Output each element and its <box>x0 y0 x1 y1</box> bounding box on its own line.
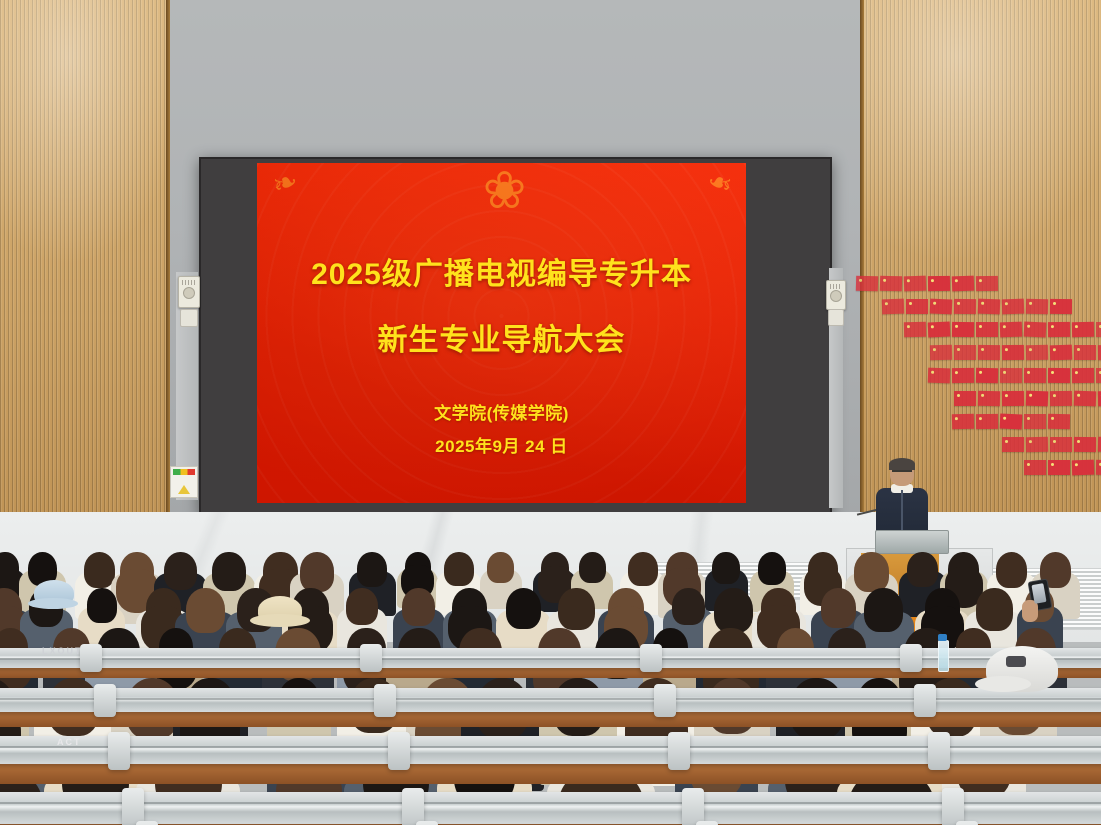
safety-notice-sign <box>170 466 198 498</box>
flag-tile <box>1024 368 1046 383</box>
audience-member-head <box>854 552 888 592</box>
flag-tile <box>1048 414 1070 429</box>
bench-end-cap <box>928 732 950 770</box>
wall-control-panel-right[interactable] <box>826 280 846 310</box>
slide-date: 2025年9月 24 日 <box>257 432 746 457</box>
bench-end-cap <box>942 788 964 825</box>
bench-end-cap <box>108 732 130 770</box>
bench-end-cap <box>388 732 410 770</box>
audience-member-head <box>907 552 938 587</box>
desk-surface <box>0 712 1101 727</box>
flag-tile <box>976 276 998 291</box>
flag-tile <box>1074 345 1096 360</box>
flag-tile <box>1002 345 1024 360</box>
wall-sensor-left <box>180 309 198 327</box>
control-panel-knob-icon[interactable] <box>183 287 195 299</box>
bench-back-rail <box>0 792 1101 824</box>
bench-end-cap <box>682 788 704 825</box>
flag-tile <box>928 276 950 291</box>
audience-member-head <box>558 588 595 630</box>
flag-tile <box>1026 391 1049 407</box>
flag-tile <box>856 276 878 292</box>
audience-member-head <box>506 588 542 629</box>
bench-end-cap <box>122 788 144 825</box>
wall-sensor-right <box>828 309 844 326</box>
beige-bucket-hat-brim <box>250 614 310 627</box>
water-bottle <box>938 640 949 672</box>
flag-tile <box>1024 414 1046 429</box>
flag-tile <box>1026 299 1048 314</box>
bench-end-cap <box>360 644 382 672</box>
flag-tile <box>952 322 974 337</box>
audience-member-head <box>212 552 246 591</box>
audience-member-head <box>402 588 435 626</box>
control-panel-vents-icon <box>182 280 196 285</box>
flag-tile <box>904 322 926 337</box>
flag-tile <box>882 299 904 315</box>
audience-member-head <box>186 588 225 633</box>
desk-surface <box>0 668 1101 678</box>
flag-tile <box>954 299 976 314</box>
flag-tile <box>928 368 950 384</box>
audience-member-head <box>300 552 334 592</box>
slide-title-line-2: 新生专业导航大会 <box>257 315 746 359</box>
flag-tile <box>1050 391 1072 406</box>
flag-tile <box>978 391 1000 406</box>
flag-tile <box>976 368 998 383</box>
flag-tile <box>976 414 998 429</box>
flag-tile <box>1096 368 1101 383</box>
audience-member-head <box>487 552 514 583</box>
audience-member-head <box>672 588 705 625</box>
jacket-print-text: LXOUT <box>42 646 83 656</box>
flag-tile <box>1002 437 1024 452</box>
light-blue-cap-brim <box>28 598 78 609</box>
bench-end-cap <box>654 684 676 717</box>
wall-control-panel-left[interactable] <box>178 276 200 308</box>
peony-ornament-left-icon: ❧ <box>269 166 302 202</box>
flag-tile <box>1072 460 1094 476</box>
flag-tile <box>880 276 902 292</box>
led-display-screen: ❧ ❀ ❧ 2025级广播电视编导专升本 新生专业导航大会 文学院(传媒学院) … <box>199 157 832 516</box>
audience-member-head <box>714 588 753 633</box>
presenter-hair <box>889 458 915 470</box>
audience-member-head <box>579 552 606 583</box>
flag-tile <box>1026 437 1048 452</box>
warning-triangle-icon <box>178 485 190 494</box>
flag-tile <box>1050 299 1072 314</box>
flag-tile <box>1096 460 1101 475</box>
flag-tile <box>1096 322 1101 337</box>
flag-tile <box>1072 322 1094 337</box>
flag-tile <box>976 322 998 337</box>
flag-tile <box>952 414 974 430</box>
flag-tile <box>1026 345 1048 361</box>
bench-end-cap <box>402 788 424 825</box>
jacket-print-text: ACT <box>57 737 82 747</box>
audience-member-head <box>628 552 658 586</box>
flag-tile <box>1000 414 1023 430</box>
control-panel-knob-icon[interactable] <box>830 290 842 302</box>
flag-tile <box>1050 437 1072 452</box>
bench-end-cap <box>80 644 102 672</box>
flag-tile <box>1074 391 1096 407</box>
peony-ornament-center-icon: ❀ <box>483 165 521 217</box>
control-panel-vents-icon <box>830 284 842 289</box>
flag-tile <box>1074 437 1096 452</box>
presentation-slide: ❧ ❀ ❧ 2025级广播电视编导专升本 新生专业导航大会 文学院(传媒学院) … <box>257 163 746 503</box>
audience-member-head <box>758 552 786 585</box>
flag-tile <box>952 276 975 292</box>
flag-tile <box>1002 391 1024 406</box>
audience-member-head <box>164 552 197 590</box>
bench-end-cap <box>94 684 116 717</box>
water-bottle-cap <box>938 634 947 641</box>
audience-member-head <box>864 588 902 632</box>
safety-sign-indicators-icon <box>173 469 195 475</box>
slide-organization: 文学院(传媒学院) <box>257 399 746 424</box>
flag-tile <box>1048 460 1070 475</box>
flag-tile <box>1048 322 1070 337</box>
flag-tile <box>1002 299 1025 315</box>
flag-tile <box>928 322 951 338</box>
audience-member-head <box>712 552 740 584</box>
flag-tile <box>906 299 928 314</box>
bench-end-cap <box>640 644 662 672</box>
flag-tile <box>930 299 953 315</box>
flag-tile <box>954 391 976 406</box>
flag-tile <box>930 345 952 360</box>
flag-tile <box>1024 322 1047 338</box>
bench-end-cap <box>696 821 718 825</box>
lecture-hall-photo: ❧ ❀ ❧ 2025级广播电视编导专升本 新生专业导航大会 文学院(传媒学院) … <box>0 0 1101 825</box>
audience-member-head <box>821 588 856 628</box>
flag-tile <box>1050 345 1072 361</box>
white-cap-brim <box>975 676 1031 692</box>
flag-tile <box>1072 368 1094 383</box>
peony-ornament-right-icon: ❧ <box>703 166 736 202</box>
screen-panel: ❧ ❀ ❧ 2025级广播电视编导专升本 新生专业导航大会 文学院(传媒学院) … <box>201 159 830 514</box>
flag-tile <box>978 299 1001 315</box>
audience-member-head <box>346 588 378 625</box>
slide-title-line-1: 2025级广播电视编导专升本 <box>257 249 746 293</box>
audience-area <box>0 540 1101 825</box>
flag-tile <box>1024 460 1046 475</box>
bench-end-cap <box>900 644 922 672</box>
bench-end-cap <box>416 821 438 825</box>
bench-back-rail <box>0 648 1101 668</box>
audience-member-head <box>996 552 1028 588</box>
white-cap-logo-icon <box>1006 656 1026 667</box>
flag-tile <box>1000 322 1023 338</box>
bench-end-cap <box>668 732 690 770</box>
audience-member-head <box>976 588 1013 631</box>
flag-tile <box>952 368 974 383</box>
flag-tile <box>904 276 927 292</box>
flag-tile <box>1000 368 1022 383</box>
bench-end-cap <box>956 821 978 825</box>
flag-mosaic-wall-art <box>880 276 1101 488</box>
bench-end-cap <box>374 684 396 717</box>
audience-member-head <box>87 588 117 623</box>
wood-panel-left <box>0 0 170 575</box>
flag-tile <box>1048 368 1070 383</box>
presenter-glasses-icon <box>892 470 912 476</box>
bench-end-cap <box>914 684 936 717</box>
flag-tile <box>978 345 1000 360</box>
bench-end-cap <box>136 821 158 825</box>
audience-member-head <box>357 552 387 587</box>
audience-member-head <box>444 552 474 586</box>
presenter <box>876 460 928 538</box>
flag-tile <box>954 345 976 360</box>
